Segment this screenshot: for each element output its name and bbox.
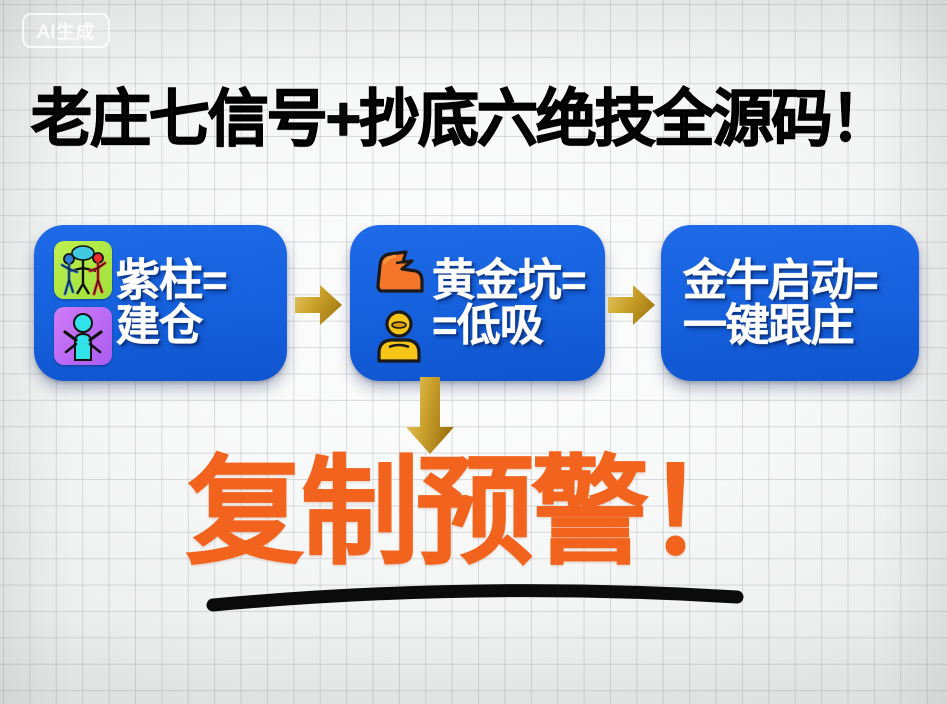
flow-node-line2: =低吸 (432, 303, 591, 348)
person-bowing-icon (370, 241, 428, 299)
page-title: 老庄七信号+抄底六绝技全源码！ (31, 86, 908, 154)
flow-node-label: 黄金坑= =低吸 (432, 258, 591, 349)
hand-drawn-underline (205, 575, 745, 617)
flow-node-purple-pillar[interactable]: 紫柱= 建仓 (34, 225, 287, 381)
people-holding-hands-icon (54, 241, 112, 299)
person-shrugging-icon (370, 307, 428, 365)
flow-node-line2: 建仓 (116, 303, 273, 348)
arrow-down-icon (401, 377, 459, 455)
ai-generated-badge: AI生成 (22, 13, 110, 48)
slogan-text: 复制预警！ (0, 452, 947, 574)
arrow-right-icon (608, 282, 656, 328)
flow-node-label: 紫柱= 建仓 (116, 258, 273, 349)
flow-node-line1: 金牛启动= (683, 258, 905, 303)
person-raising-hands-icon (54, 307, 112, 365)
flow-node-icon-column (366, 241, 432, 365)
flow-diagram: 紫柱= 建仓 (0, 225, 947, 385)
flow-node-line1: 黄金坑= (432, 258, 591, 303)
flow-node-golden-pit[interactable]: 黄金坑= =低吸 (350, 225, 605, 381)
flow-node-label: 金牛启动= 一键跟庄 (677, 258, 905, 349)
arrow-right-icon (295, 282, 343, 328)
flow-node-icon-column (50, 241, 116, 365)
flow-node-line1: 紫柱= (116, 258, 273, 303)
ai-badge-label: AI生成 (37, 17, 95, 44)
flow-node-line2: 一键跟庄 (683, 303, 905, 348)
flow-node-bull-start[interactable]: 金牛启动= 一键跟庄 (661, 225, 919, 381)
